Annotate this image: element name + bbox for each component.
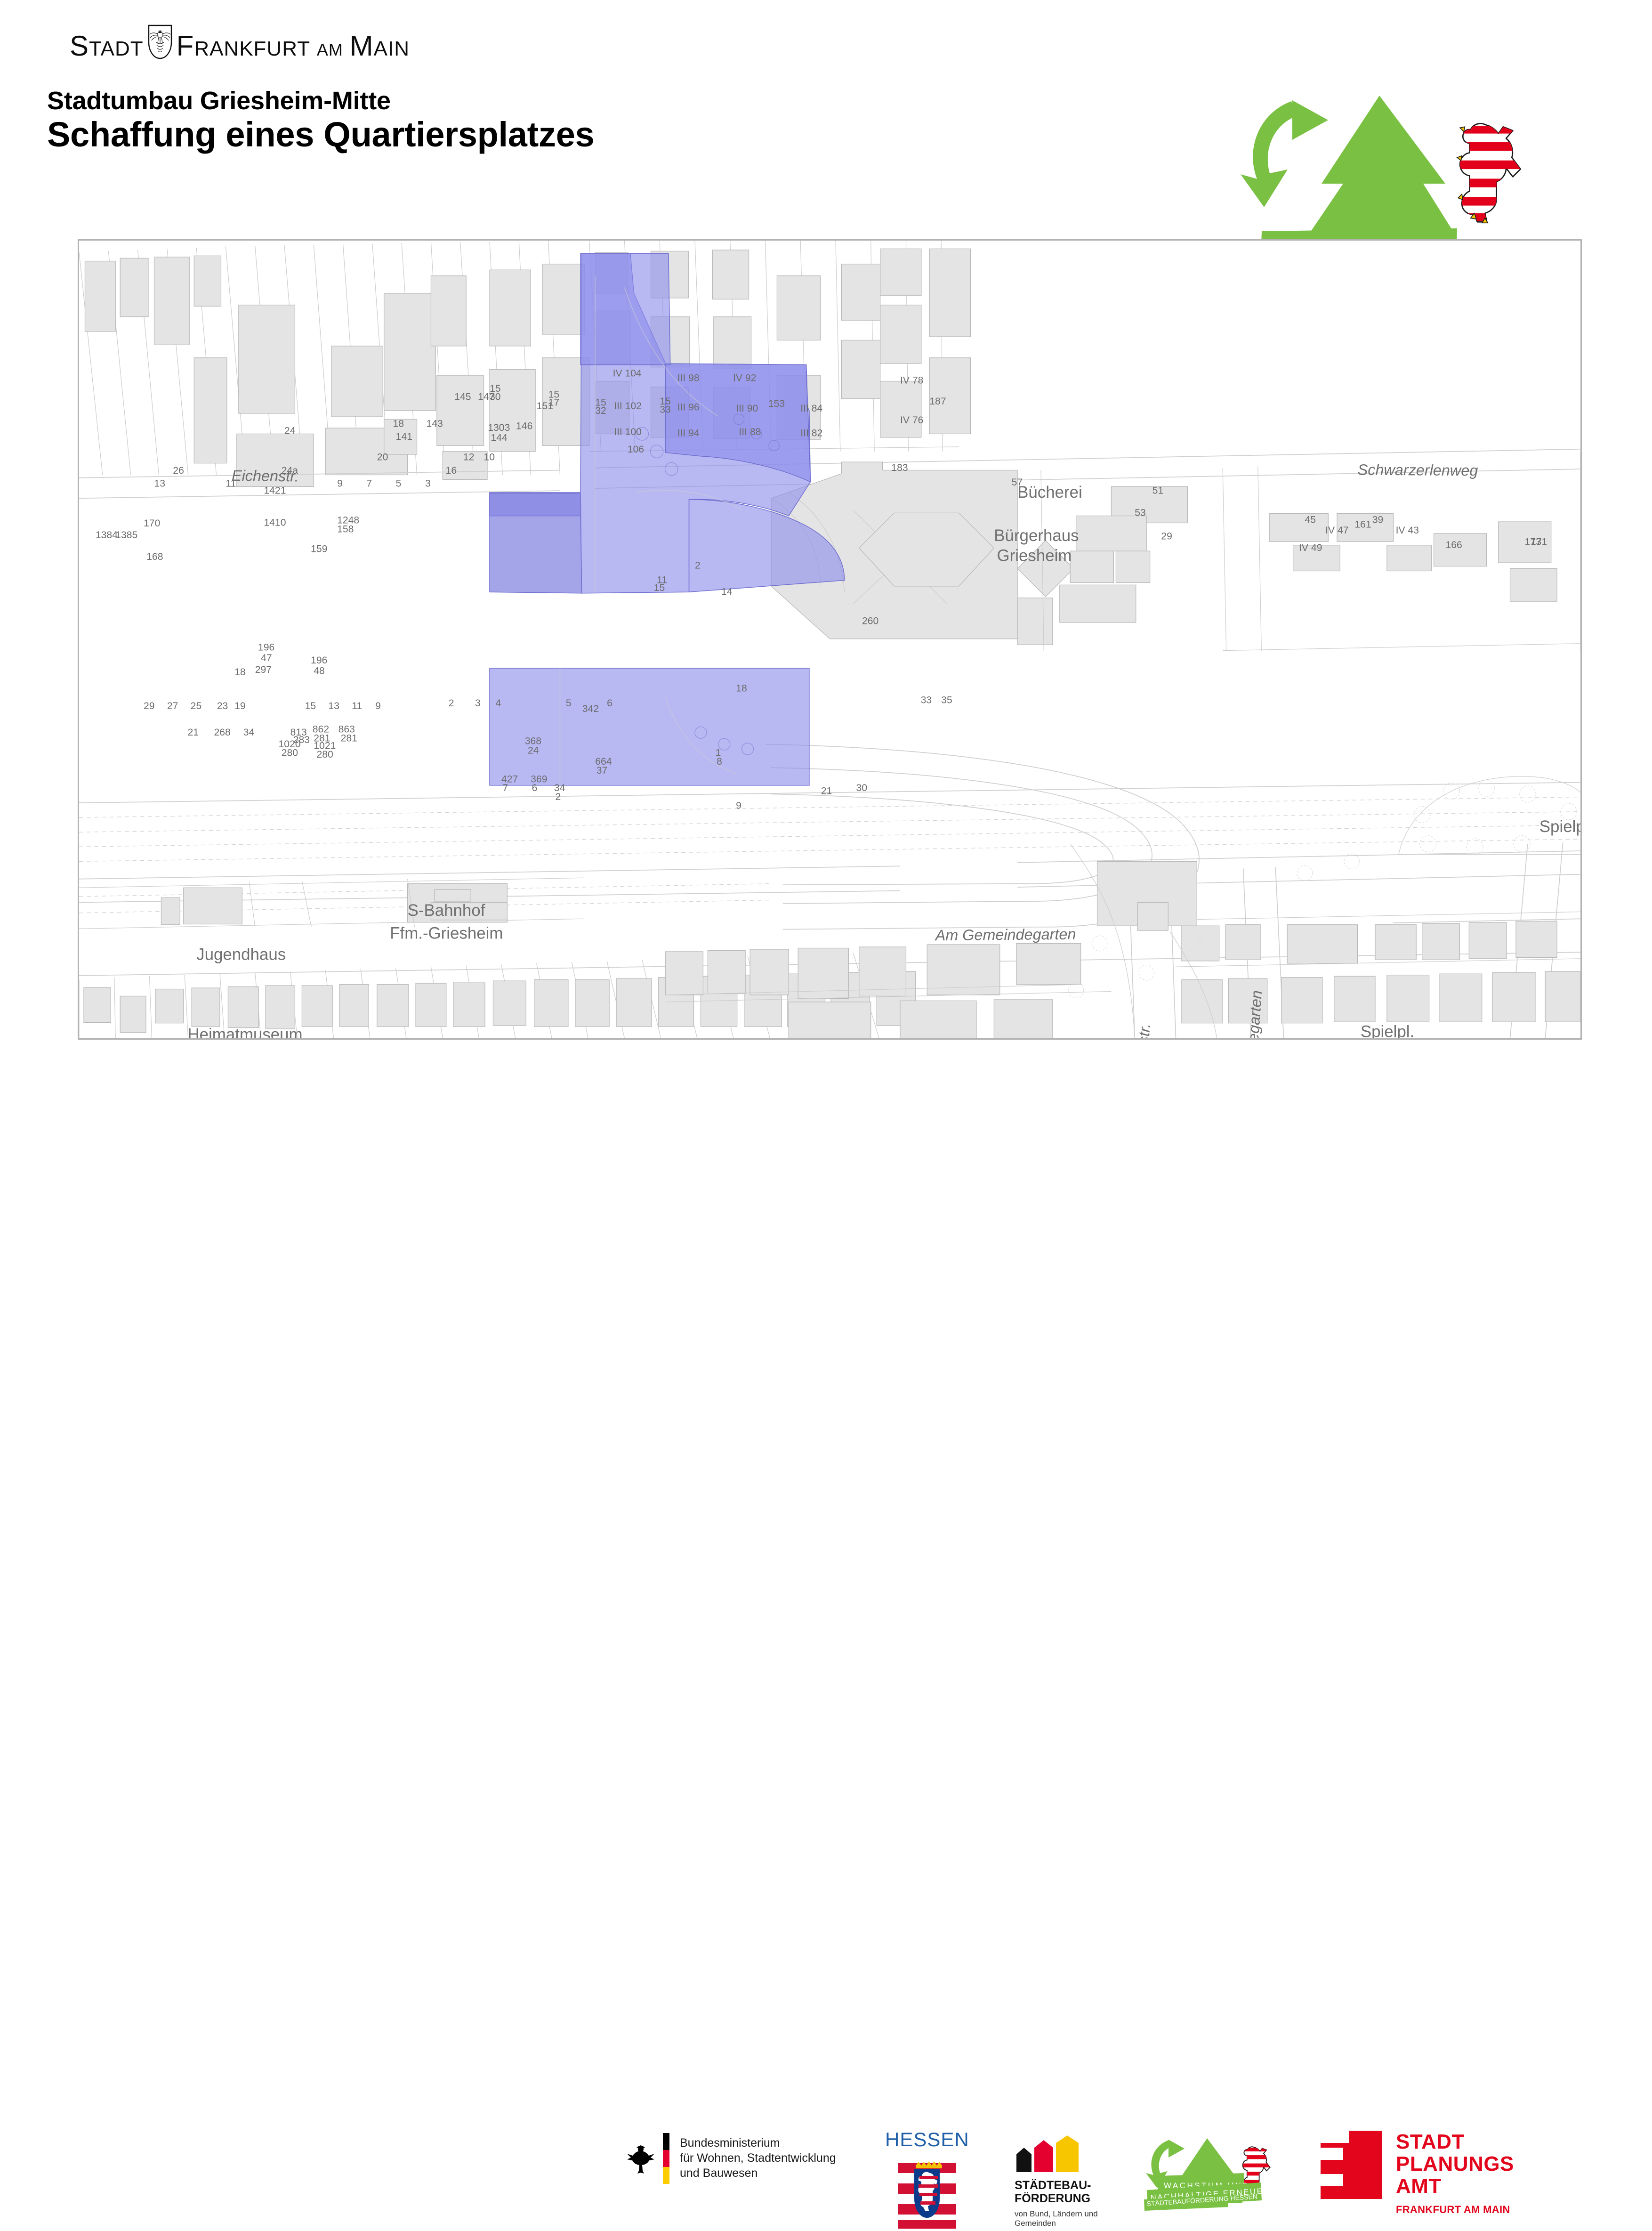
map-house-number: 20 [377,452,388,462]
map-house-number: 280 [282,748,298,759]
map-house-number: III 90 [736,403,758,414]
spa-line3: AMT [1396,2175,1514,2197]
map-house-number: 18 [736,683,747,694]
project-subtitle: Stadtumbau Griesheim-Mitte [47,86,391,115]
wachstum-nachhaltige-erneuerung-logo-small: WACHSTUM UND NACHHALTIGE ERNEUERUNG STÄD… [1144,2135,1295,2211]
map-house-number: 35 [941,695,952,706]
map-house-number: 297 [255,664,272,675]
map-house-number: 196 [258,642,274,653]
map-house-number: 168 [146,551,163,562]
map-house-number: III 84 [800,403,822,414]
map-house-number: 10 [484,452,495,462]
map-street-label: Eichenstr. [232,467,299,485]
map-house-number: 143 [426,419,443,429]
map-house-number: 33 [921,695,932,706]
cadastral-map[interactable]: 2424a26182016101214514714114314614413031… [78,239,1582,1040]
map-house-number: 14 [721,586,733,597]
map-house-number: 15 [654,582,665,593]
map-house-number: 15 [305,701,316,711]
hessen-wordmark: HESSEN [885,2128,969,2151]
map-house-number: 11 [352,701,362,711]
map-place-label: Heimatmuseum [187,1026,302,1038]
map-house-number: 30 [490,391,501,402]
map-house-number: 25 [191,701,202,711]
map-house-number: 281 [314,733,330,744]
recycle-arrow-icon [1241,100,1328,207]
map-house-number: IV 49 [1299,542,1322,553]
staedtebau-title-line2: FÖRDERUNG [1015,2192,1098,2205]
footer-logo-bar: Bundesministerium für Wohnen, Stadtentwi… [0,1062,1652,1168]
map-house-number: IV 76 [900,415,923,426]
staedtebaufoerderung-logo: STÄDTEBAU- FÖRDERUNG von Bund, Ländern u… [1015,2135,1098,2229]
map-place-label: Ffm.-Griesheim [390,924,503,943]
map-house-number: 2 [449,698,454,709]
map-canvas[interactable]: 2424a26182016101214514714114314614413031… [79,241,1580,1038]
green-growth-arrow-icon [1306,96,1457,238]
staedtebau-title: STÄDTEBAU- FÖRDERUNG [1015,2179,1098,2205]
map-house-number: 24 [284,425,296,436]
map-house-number: 6 [532,783,538,793]
map-house-number: 18 [393,419,404,429]
map-house-number: 47 [261,653,272,663]
city-logo: STADT FRANKFURT AM MAIN [70,23,410,60]
map-house-number: 1410 [264,517,286,528]
stadtplanungsamt-logo: STADT PLANUNGS AMT FRANKFURT AM MAIN [1321,2131,1514,2216]
map-house-number: 141 [396,431,412,442]
hessen-lion-icon [1456,123,1528,223]
map-house-number: IV 92 [733,373,756,384]
map-house-number: 32 [595,405,606,416]
map-house-number: III 102 [614,401,642,412]
map-house-number: 9 [375,701,381,711]
map-house-number: 13 [154,478,165,489]
map-house-number: 144 [491,432,508,443]
map-house-number: 158 [337,524,354,534]
stadtplanungsamt-block-icon [1321,2131,1382,2199]
map-house-number: 146 [516,421,532,432]
map-house-number: 280 [317,749,333,760]
map-house-number: 166 [1445,540,1462,550]
map-house-number: 159 [311,544,327,555]
map-house-number: 2 [695,560,701,571]
stadtplanungsamt-text: STADT PLANUNGS AMT FRANKFURT AM MAIN [1396,2131,1514,2216]
staedtebau-subtitle: von Bund, Ländern und Gemeinden [1015,2209,1098,2229]
map-house-number: 5 [396,478,402,489]
map-place-label: Bücherei [1017,483,1082,501]
map-house-number: 7 [502,783,508,793]
staedtebau-sub-line1: von Bund, Ländern und [1015,2209,1098,2219]
map-house-number: 1384 [96,530,118,541]
map-house-number: 153 [768,398,785,409]
map-house-number: 5 [566,698,572,709]
map-place-label: Bürgerhaus [994,526,1079,545]
map-house-number: 145 [454,391,471,402]
hessen-state-logo: HESSEN [885,2128,969,2231]
map-house-number: 1303 [488,422,510,433]
hessen-wappen-icon [898,2223,956,2231]
bmwsb-line2: für Wohnen, Stadtentwicklung [680,2151,836,2166]
map-place-label: Spielpl. [1361,1023,1414,1038]
map-house-number: 171 [1531,537,1547,548]
map-house-number: 268 [214,727,231,738]
map-house-number: 16 [446,465,457,476]
map-house-number: 6 [607,698,612,709]
map-house-number: 1385 [115,530,137,541]
map-house-number: 281 [341,733,357,744]
map-house-number: III 88 [739,427,761,437]
map-house-number: 39 [1372,515,1384,525]
map-house-number: 29 [1161,531,1172,542]
map-house-number: 1421 [264,485,286,496]
staedtebau-title-line1: STÄDTEBAU- [1015,2179,1098,2192]
map-house-number: 2 [556,792,561,802]
map-house-number: III 82 [800,428,822,438]
map-house-number: 53 [1135,508,1146,518]
map-house-number: 18 [234,667,246,678]
map-house-number: III 98 [677,373,700,384]
map-place-label: S-Bahnhof [408,901,485,920]
three-houses-icon [1015,2135,1088,2172]
map-house-number: 170 [144,518,160,529]
map-place-label: Spielplatz [1539,817,1580,836]
map-house-number: 4 [495,698,501,709]
map-house-number: 27 [167,701,178,711]
spa-line2: PLANUNGS [1396,2153,1514,2175]
map-house-number: 37 [596,765,608,776]
map-house-number: 183 [891,462,908,473]
map-house-number: 342 [582,703,599,714]
map-house-number: 23 [217,701,228,711]
map-house-number: 51 [1152,485,1164,496]
map-house-number: 34 [243,727,255,738]
map-house-number: 7 [366,478,372,489]
map-house-number: 9 [736,800,741,811]
map-street-label: Schwarzerlenweg [1358,461,1478,479]
map-house-number: 19 [234,701,246,711]
map-house-number: IV 104 [613,368,642,379]
page-title: Schaffung eines Quartiersplatzes [47,114,594,154]
bmwsb-line3: und Bauwesen [680,2166,836,2181]
map-house-number: 45 [1305,515,1316,525]
map-house-number: 26 [173,465,184,476]
bmwsb-line1: Bundesministerium [680,2136,836,2151]
bundesministerium-text: Bundesministerium für Wohnen, Stadtentwi… [680,2136,836,2181]
map-house-number: III 96 [677,402,700,413]
map-house-number: 21 [821,785,832,796]
map-house-number: 9 [337,478,343,489]
map-house-number: 24 [528,745,539,756]
map-house-number: 12 [463,452,475,462]
map-house-number: 48 [314,665,325,676]
spa-line1: STADT [1396,2131,1514,2153]
staedtebau-sub-line2: Gemeinden [1015,2219,1098,2228]
german-flag-bar-icon [663,2133,669,2184]
map-house-number: 8 [717,756,722,767]
frankfurt-eagle-crest-icon [148,24,172,59]
map-house-number: 30 [856,783,868,793]
map-street-label: Am Gemeindegarten [934,926,1076,944]
map-house-number: 106 [628,444,644,455]
map-house-number: 33 [660,404,671,415]
map-house-number: 196 [311,655,327,666]
map-house-number: IV 78 [900,375,923,386]
map-house-number: 161 [1354,519,1371,530]
bundesministerium-logo: Bundesministerium für Wohnen, Stadtentwi… [626,2133,836,2184]
map-house-number: 21 [187,727,199,738]
spa-line4: FRANKFURT AM MAIN [1396,2204,1514,2216]
map-house-number: IV 47 [1325,525,1348,536]
map-house-number: III 100 [614,427,642,437]
bundesadler-icon [626,2142,655,2175]
map-place-label: Jugendhaus [196,945,286,963]
map-house-number: 13 [328,701,339,711]
map-house-number: 3 [475,698,481,709]
map-house-number: 29 [144,701,155,711]
map-house-number: 260 [862,616,878,627]
map-house-number: IV 43 [1396,525,1419,536]
city-logo-word-frankfurt-am-main: FRANKFURT AM MAIN [177,32,410,60]
map-house-number: III 94 [677,428,700,438]
map-house-number: 17 [548,397,560,408]
map-house-number: 283 [293,735,310,745]
map-house-number: 3 [425,478,431,489]
map-place-label: Griesheim [997,546,1072,565]
map-house-number: 187 [929,396,946,407]
city-logo-word-stadt: STADT [70,32,144,60]
